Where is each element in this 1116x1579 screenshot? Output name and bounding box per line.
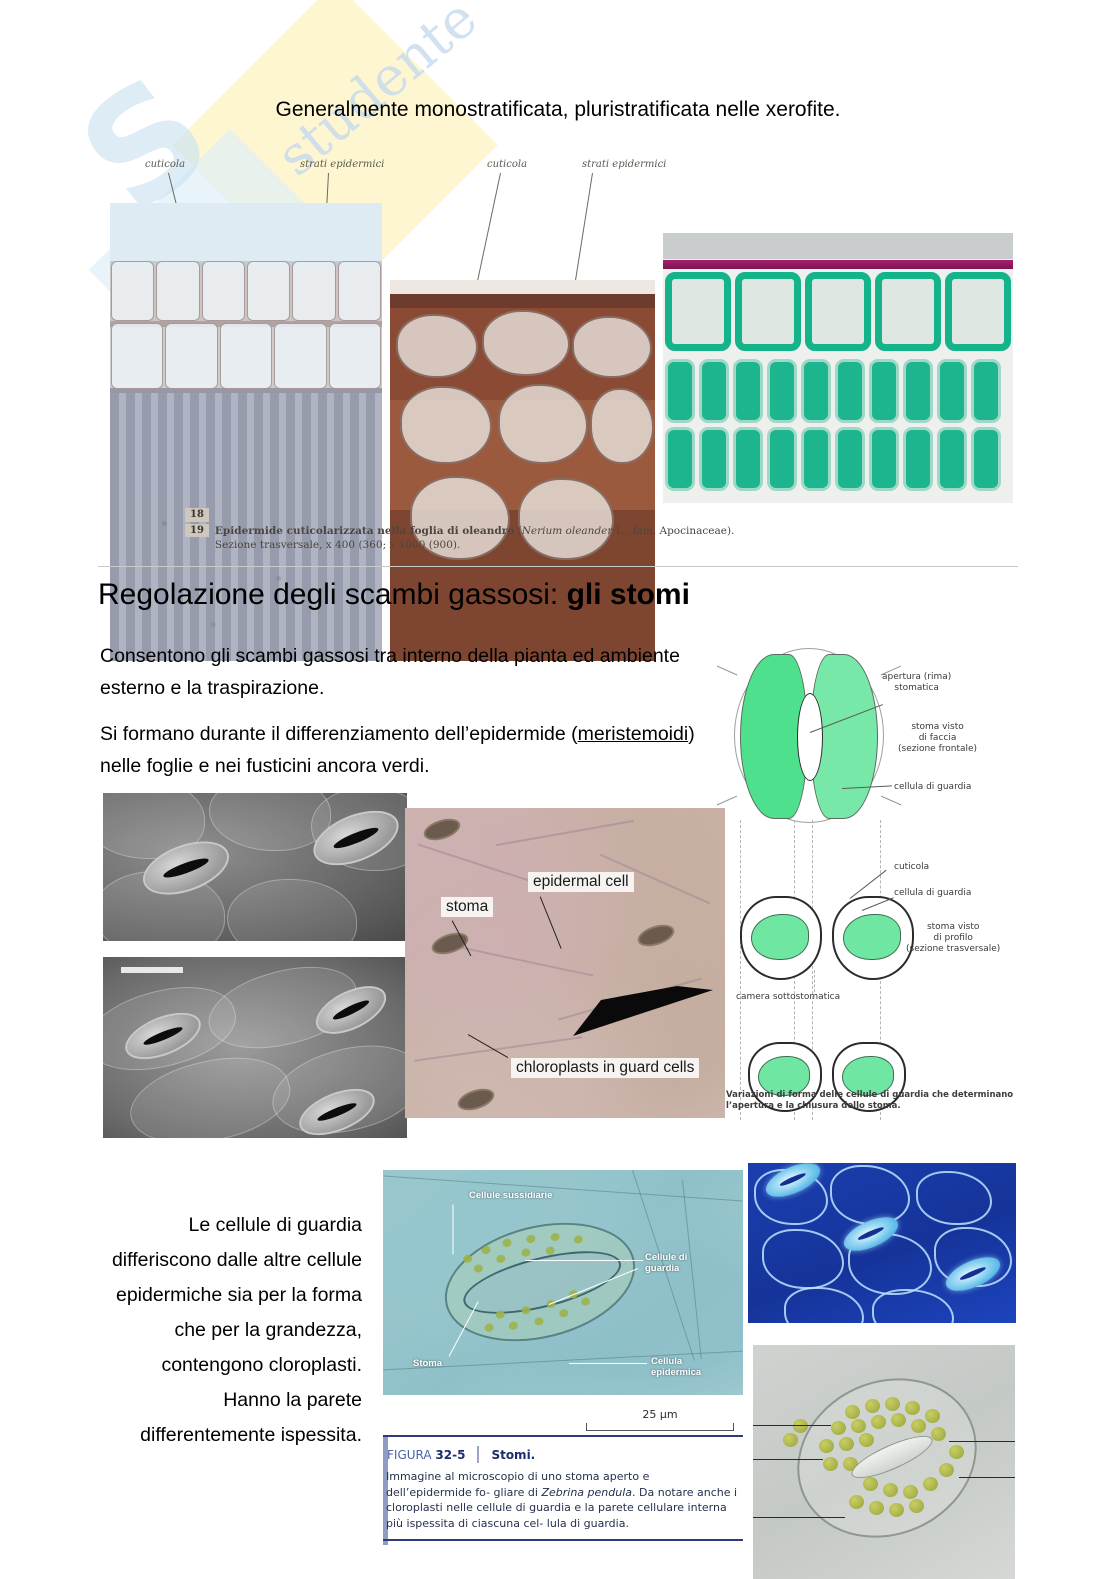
diagram-caption-line1: Variazioni di forma delle cellule di gua… [726,1090,1018,1101]
caption-species: Nerium oleander [522,525,613,537]
label-cellula-guardia-1: cellula di guardia [894,782,971,793]
intro-line: Generalmente monostratificata, pluristra… [0,98,1116,122]
paragraph-2-underlined: meristemoidi [578,723,689,745]
cuticle-layer [663,260,1013,269]
micrograph-blue-stomata [748,1163,1016,1323]
stoma-schematic-diagram: apertura (rima) stomatica stoma visto di… [722,640,1022,1120]
figure-32-5: Cellule sussidiarie Cellule di guardia S… [383,1170,743,1579]
label-profilo-line3: (sezione trasversale) [906,944,1000,955]
label-cuticola-1: cuticola [145,159,185,170]
caption-number-19: 19 [185,524,209,538]
label-guardia-line1: Cellule di [645,1252,687,1263]
figure-top-caption: 18 19 Epidermide cuticolarizzata nella f… [185,508,805,552]
stoma-profile-view [740,890,920,986]
caption-separator [477,1446,479,1463]
stoma-epidermal-3 [635,921,677,951]
label-apertura-line1: apertura (rima) [882,672,951,683]
label-frontale-line1: stoma visto [898,722,977,733]
diagram-caption-line2: l’apertura e la chiusura dello stoma. [726,1101,1018,1112]
caption-line2: Sezione trasversale, x 400 (360; x 1000 … [215,539,460,551]
figure-number-group: FIGURA 32-5 [383,1448,465,1462]
label-stoma-en: stoma [441,897,493,917]
scale-bar-group: 25 µm [586,1408,734,1431]
label-cellule-sussidiarie: Cellule sussidiarie [469,1190,552,1201]
label-apertura-stomatica: apertura (rima) stomatica [882,672,951,694]
caption-title: Epidermide cuticolarizzata nella foglia … [215,525,514,537]
label-camera-sottostomatica: camera sottostomatica [736,992,840,1003]
label-chloroplasts-guard-cells: chloroplasts in guard cells [511,1058,699,1078]
stoma-epidermal-1 [421,815,463,845]
label-frontale-line2: di faccia [898,733,977,744]
leader-camera [814,970,815,992]
section-divider [98,566,1018,567]
label-stoma-frontale: stoma visto di faccia (sezione frontale) [898,722,977,755]
micrograph-green-epidermis [663,233,1013,503]
caption-body-species: Zebrina pendula [541,1486,632,1499]
leader-epidermica [569,1363,647,1364]
figure-top-row: cuticola strati epidermici cuticola stra… [0,155,1116,555]
caption-species-tail: L., fam. Apocinaceae). [612,525,734,537]
scale-bar-line [586,1423,734,1431]
paragraph-1: Consentono gli scambi gassosi tra intern… [100,640,700,704]
label-strati-2: strati epidermici [582,159,666,170]
paragraph-2: Si formano durante il differenziamento d… [100,718,700,782]
caption-rule-top [383,1435,743,1437]
label-profilo-line2: di profilo [906,933,1000,944]
label-cellula-epidermica: Cellula epidermica [651,1356,701,1378]
sem-scale-bar [121,967,183,973]
label-guardia-line2: guardia [645,1263,687,1274]
label-frontale-line3: (sezione frontale) [898,744,977,755]
scale-bar-label: 25 µm [586,1408,734,1421]
pointer-arrow-icon [565,984,715,1042]
heading-bold: gli stomi [567,578,690,611]
page-title: Regolazione degli scambi gassosi: gli st… [98,578,690,612]
figure-number: 32-5 [435,1448,465,1462]
caption-body-line4: lula di guardia. [547,1517,629,1530]
figure-number-prefix: FIGURA [387,1448,435,1462]
guard-cells-pair [432,1204,647,1360]
leader-guardia-1 [525,1260,643,1261]
leader-cellule-sussidiarie [453,1205,454,1255]
label-epidermica-line1: Cellula [651,1356,701,1367]
micrograph-stoma-chloroplasts [753,1345,1015,1579]
label-apertura-line2: stomatica [882,683,951,694]
label-strati-1: strati epidermici [300,159,384,170]
stoma-epidermal-4 [455,1085,497,1115]
heading-normal: Regolazione degli scambi gassosi: [98,578,567,611]
figure-caption-header: FIGURA 32-5 Stomi. [383,1445,743,1464]
figure-32-5-caption-box: FIGURA 32-5 Stomi. Immagine al microscop… [383,1435,743,1545]
figure-caption-body: Immagine al microscopio di uno stoma ape… [386,1469,738,1531]
document-page: S studente Generalmente monostratificata… [0,0,1116,1579]
sem-micrograph-stomata-top [103,793,407,941]
stomatal-pore [797,693,823,781]
caption-body-line2a: gliare di [494,1486,542,1499]
caption-number-18: 18 [185,508,209,522]
paragraph-2-part-a: Si formano durante il differenziamento d… [100,723,578,745]
label-cellule-di-guardia: Cellule di guardia [645,1252,687,1274]
sem-micrograph-stomata-bottom [103,957,407,1138]
figure-32-5-micrograph: Cellule sussidiarie Cellule di guardia S… [383,1170,743,1395]
figure-title: Stomi. [491,1448,535,1462]
label-epidermal-cell: epidermal cell [528,872,634,892]
diagram-caption: Variazioni di forma delle cellule di gua… [726,1090,1018,1111]
stoma-frontal-view [734,648,884,823]
caption-rule-bottom [383,1539,743,1541]
guard-cell-profile-left [740,896,822,980]
label-stoma-it: Stoma [413,1358,442,1369]
paragraph-3: Le cellule di guardia differiscono dalle… [100,1208,362,1453]
label-cellula-guardia-2: cellula di guardia [894,888,971,899]
label-cuticola-2: cuticola [487,159,527,170]
label-epidermica-line2: epidermica [651,1367,701,1378]
guard-cell-profile-right [832,896,914,980]
label-cuticola-diagram: cuticola [894,862,929,873]
label-profilo-line1: stoma visto [906,922,1000,933]
label-stoma-profilo: stoma visto di profilo (sezione trasvers… [906,922,1000,955]
